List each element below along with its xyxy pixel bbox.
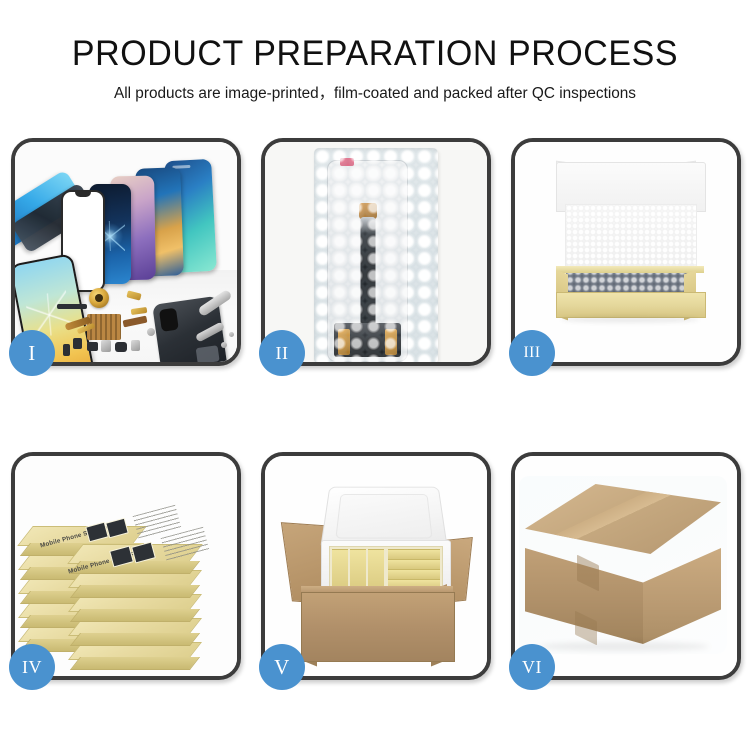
process-step-grid: I II xyxy=(11,138,741,680)
step-badge-1: I xyxy=(9,330,55,376)
step-badge-5: V xyxy=(259,644,305,690)
step-image-1 xyxy=(15,142,237,362)
step-image-3 xyxy=(515,142,737,362)
page-title: PRODUCT PREPARATION PROCESS xyxy=(11,34,739,74)
step-panel-3[interactable]: III xyxy=(511,138,741,366)
step-panel-2[interactable]: II xyxy=(261,138,491,366)
step-badge-6: VI xyxy=(509,644,555,690)
page-subtitle: All products are image-printed，film-coat… xyxy=(4,83,747,105)
step-badge-3: III xyxy=(509,330,555,376)
step-image-4: Mobile Phone Spare Parts Mobile Phone Sp… xyxy=(15,456,237,676)
step-panel-1[interactable]: I xyxy=(11,138,241,366)
step-image-5 xyxy=(265,456,487,676)
page-header: PRODUCT PREPARATION PROCESS All products… xyxy=(0,0,750,105)
step-image-6 xyxy=(515,456,737,676)
step-image-2 xyxy=(265,142,487,362)
step-panel-4[interactable]: Mobile Phone Spare Parts Mobile Phone Sp… xyxy=(11,452,241,680)
step-panel-5[interactable]: V xyxy=(261,452,491,680)
step-badge-2: II xyxy=(259,330,305,376)
step-badge-4: IV xyxy=(9,644,55,690)
step-panel-6[interactable]: VI xyxy=(511,452,741,680)
